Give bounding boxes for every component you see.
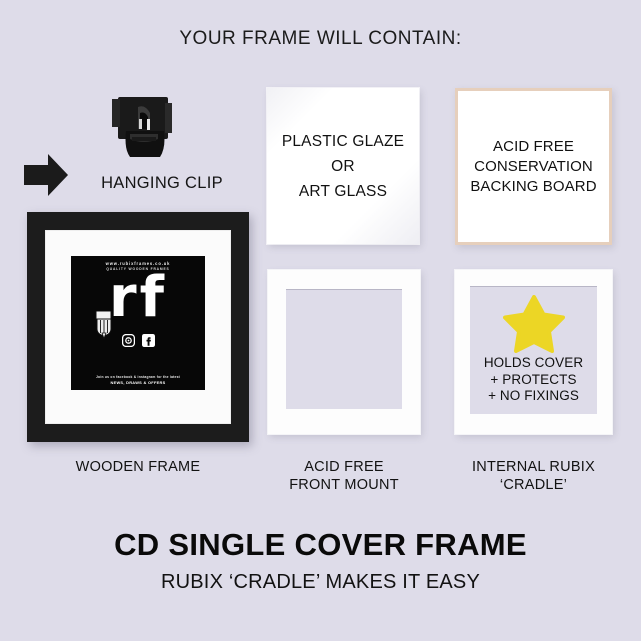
hanging-clip-label: HANGING CLIP <box>72 174 252 193</box>
artwork-monogram: rf <box>71 270 205 326</box>
caption-wooden-frame: WOODEN FRAME <box>27 458 249 476</box>
wooden-frame-artwork: www.rubixframes.co.uk QUALITY WOODEN FRA… <box>71 256 205 390</box>
footer-title: CD SINGLE COVER FRAME <box>0 527 641 563</box>
instagram-icon <box>122 334 135 352</box>
hanging-clip-icon <box>104 93 184 173</box>
backing-board-panel: ACID FREE CONSERVATION BACKING BOARD <box>455 88 612 245</box>
front-mount-aperture <box>286 289 402 409</box>
artwork-bottom-line-2: NEWS, DRAWS & OFFERS <box>71 380 205 385</box>
cradle-line-3: + NO FIXINGS <box>484 388 583 405</box>
arrow-right-icon <box>22 152 70 198</box>
caption-cradle-line-2: ‘CRADLE’ <box>450 476 617 494</box>
caption-cradle-line-1: INTERNAL RUBIX <box>450 458 617 476</box>
glaze-line-2: OR <box>331 154 355 179</box>
cradle-panel: HOLDS COVER + PROTECTS + NO FIXINGS <box>455 270 612 434</box>
cradle-line-2: + PROTECTS <box>484 372 583 389</box>
artwork-social-row <box>71 334 205 352</box>
backing-line-1: ACID FREE <box>493 137 574 157</box>
wooden-frame-mount: www.rubixframes.co.uk QUALITY WOODEN FRA… <box>45 230 231 424</box>
star-icon <box>503 295 565 353</box>
wooden-frame: www.rubixframes.co.uk QUALITY WOODEN FRA… <box>27 212 249 442</box>
cradle-inner-area: HOLDS COVER + PROTECTS + NO FIXINGS <box>470 286 597 414</box>
glaze-panel: PLASTIC GLAZE OR ART GLASS <box>267 88 419 244</box>
front-mount-panel <box>268 270 420 434</box>
caption-front-mount-line-2: FRONT MOUNT <box>268 476 420 494</box>
footer-subtitle: RUBIX ‘CRADLE’ MAKES IT EASY <box>0 571 641 594</box>
caption-cradle: INTERNAL RUBIX ‘CRADLE’ <box>450 458 617 494</box>
artwork-bottom-line-1: Join us on facebook & instagram for the … <box>71 375 205 379</box>
caption-front-mount-line-1: ACID FREE <box>268 458 420 476</box>
page-title: YOUR FRAME WILL CONTAIN: <box>0 28 641 50</box>
facebook-icon <box>142 334 155 352</box>
glaze-line-3: ART GLASS <box>299 179 387 204</box>
caption-front-mount: ACID FREE FRONT MOUNT <box>268 458 420 494</box>
backing-line-2: CONSERVATION <box>474 157 593 177</box>
cradle-line-1: HOLDS COVER <box>484 355 583 372</box>
backing-line-3: BACKING BOARD <box>470 177 596 197</box>
glaze-line-1: PLASTIC GLAZE <box>282 129 404 154</box>
caption-wooden-frame-line-1: WOODEN FRAME <box>27 458 249 476</box>
